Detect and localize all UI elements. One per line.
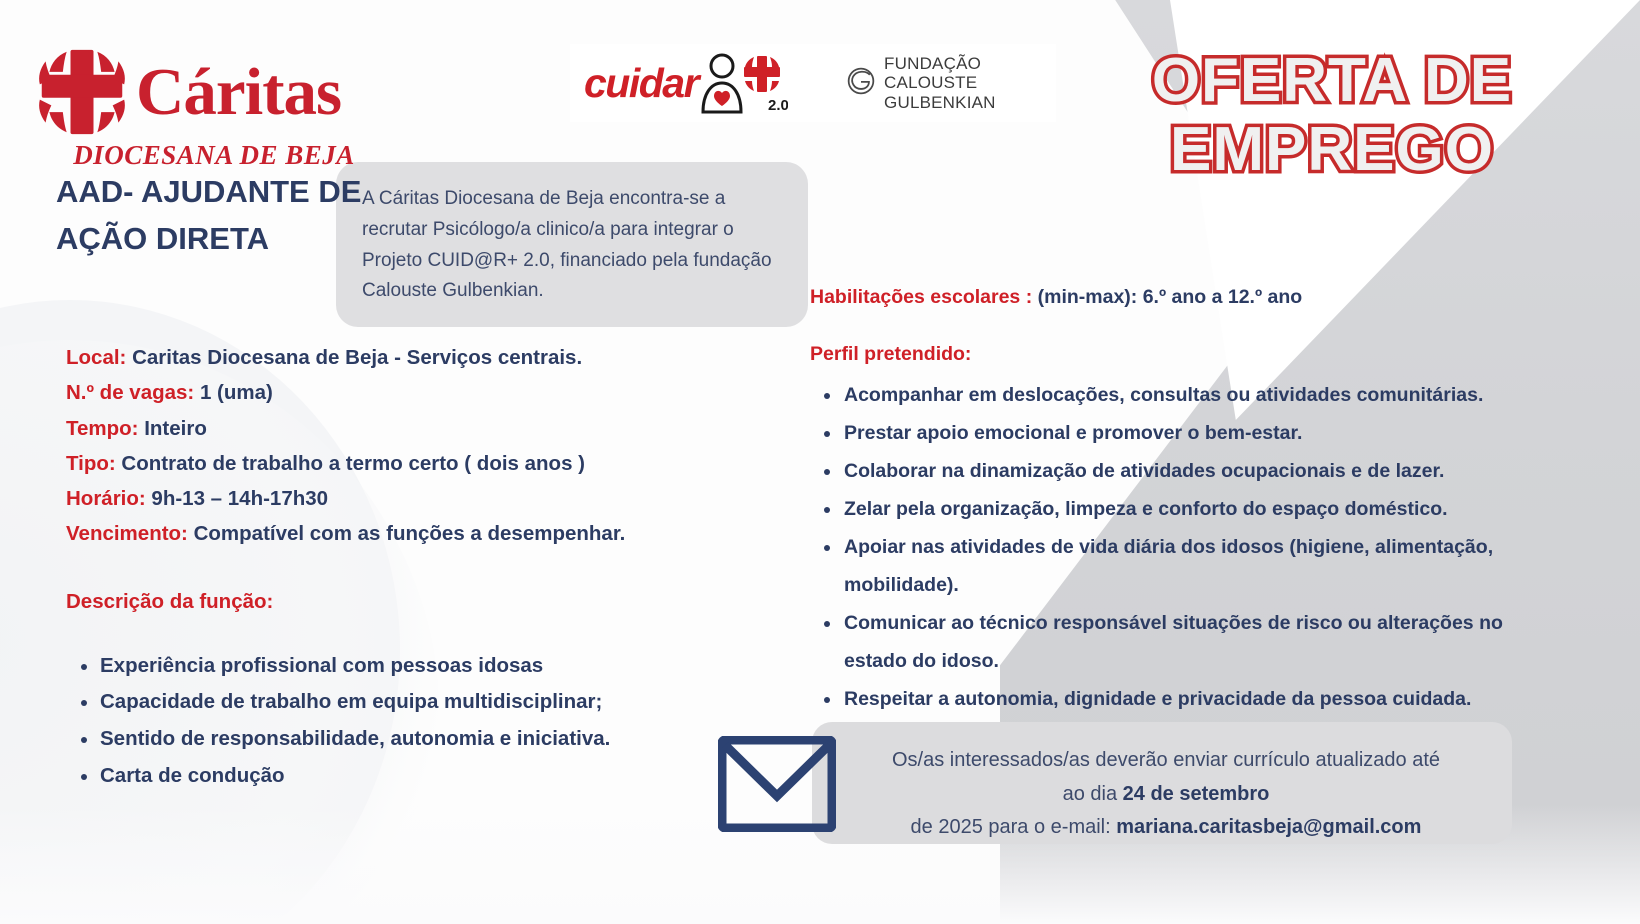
list-item: Colaborar na dinamização de atividades o… bbox=[844, 452, 1550, 490]
intro-callout: A Cáritas Diocesana de Beja encontra-se … bbox=[336, 162, 808, 327]
detail-rows: Local: Caritas Diocesana de Beja - Servi… bbox=[66, 340, 706, 552]
contact-email[interactable]: mariana.caritasbeja@gmail.com bbox=[1116, 816, 1421, 838]
partner-logos-band: cuidar 2.0 bbox=[570, 44, 1056, 122]
detail-row: N.º de vagas: 1 (uma) bbox=[66, 375, 706, 410]
description-list: Experiência profissional com pessoas ido… bbox=[66, 648, 706, 796]
education-label: Habilitações escolares : bbox=[810, 286, 1032, 308]
detail-row: Local: Caritas Diocesana de Beja - Servi… bbox=[66, 340, 706, 375]
contact-line-2-prefix: ao dia bbox=[1063, 783, 1123, 805]
detail-label: Local: bbox=[66, 346, 126, 369]
detail-row: Horário: 9h-13 – 14h-17h30 bbox=[66, 481, 706, 516]
contact-line-3: de 2025 para o e-mail: mariana.caritasbe… bbox=[846, 811, 1486, 845]
list-item: Experiência profissional com pessoas ido… bbox=[100, 648, 706, 685]
job-offer-poster: Cáritas DIOCESANA DE BEJA cuidar bbox=[0, 0, 1640, 924]
headline-line-2: EMPREGO bbox=[1052, 115, 1612, 184]
caritas-wordmark: Cáritas bbox=[136, 60, 341, 124]
detail-label: Tipo: bbox=[66, 452, 116, 475]
detail-row: Tempo: Inteiro bbox=[66, 411, 706, 446]
page-title: OFERTA DE EMPREGO bbox=[1052, 46, 1612, 185]
detail-value: Caritas Diocesana de Beja - Serviços cen… bbox=[126, 346, 582, 369]
caritas-subtitle: DIOCESANA DE BEJA bbox=[34, 140, 364, 171]
detail-label: Tempo: bbox=[66, 417, 139, 440]
caritas-logo-top: Cáritas bbox=[34, 46, 364, 138]
gulbenkian-logo: FUNDAÇÃO CALOUSTE GULBENKIAN bbox=[846, 54, 1056, 111]
job-title: AAD- AJUDANTE DE AÇÃO DIRETA bbox=[56, 168, 366, 262]
detail-label: Horário: bbox=[66, 487, 146, 510]
cuidar-logo: cuidar 2.0 bbox=[584, 52, 788, 114]
list-item: Zelar pela organização, limpeza e confor… bbox=[844, 490, 1550, 528]
list-item: Prestar apoio emocional e promover o bem… bbox=[844, 414, 1550, 452]
headline-line-1: OFERTA DE bbox=[1152, 46, 1512, 115]
description-heading: Descrição da função: bbox=[66, 590, 706, 614]
gulbenkian-line2: CALOUSTE GULBENKIAN bbox=[884, 73, 996, 111]
cuidar-wordmark: cuidar bbox=[584, 63, 698, 104]
detail-value: 1 (uma) bbox=[194, 381, 273, 404]
list-item: Respeitar a autonomia, dignidade e priva… bbox=[844, 680, 1550, 718]
list-item: Capacidade de trabalho em equipa multidi… bbox=[100, 684, 706, 721]
contact-deadline: 24 de setembro bbox=[1123, 783, 1270, 805]
contact-line-1: Os/as interessados/as deverão enviar cur… bbox=[846, 744, 1486, 778]
caritas-cross-icon bbox=[34, 46, 130, 138]
profile-list: Acompanhar em deslocações, consultas ou … bbox=[810, 376, 1550, 718]
detail-value: 9h-13 – 14h-17h30 bbox=[146, 487, 328, 510]
list-item: Carta de condução bbox=[100, 758, 706, 795]
detail-row: Tipo: Contrato de trabalho a termo certo… bbox=[66, 446, 706, 481]
list-item: Acompanhar em deslocações, consultas ou … bbox=[844, 376, 1550, 414]
detail-value: Contrato de trabalho a termo certo ( doi… bbox=[116, 452, 585, 475]
detail-label: Vencimento: bbox=[66, 522, 188, 545]
gulbenkian-name: FUNDAÇÃO CALOUSTE GULBENKIAN bbox=[884, 54, 1056, 111]
gulbenkian-seal-icon bbox=[846, 66, 876, 101]
contact-text: Os/as interessados/as deverão enviar cur… bbox=[846, 744, 1486, 845]
detail-row: Vencimento: Compatível com as funções a … bbox=[66, 516, 706, 551]
education-value: (min-max): 6.º ano a 12.º ano bbox=[1038, 286, 1303, 308]
gulbenkian-line1: FUNDAÇÃO bbox=[884, 54, 981, 73]
job-details: Local: Caritas Diocesana de Beja - Servi… bbox=[66, 340, 706, 795]
list-item: Apoiar nas atividades de vida diária dos… bbox=[844, 528, 1550, 604]
envelope-icon bbox=[718, 736, 836, 832]
education-requirement: Habilitações escolares : (min-max): 6.º … bbox=[810, 282, 1550, 313]
intro-text: A Cáritas Diocesana de Beja encontra-se … bbox=[362, 184, 782, 307]
caritas-logo: Cáritas DIOCESANA DE BEJA bbox=[34, 46, 364, 171]
contact-line-2: ao dia 24 de setembro bbox=[846, 778, 1486, 812]
contact-line-3-prefix: de 2025 para o e-mail: bbox=[911, 816, 1117, 838]
cuidar-version: 2.0 bbox=[768, 97, 788, 114]
profile-heading: Perfil pretendido: bbox=[810, 343, 1550, 366]
detail-value: Compatível com as funções a desempenhar. bbox=[188, 522, 626, 545]
requirements-column: Habilitações escolares : (min-max): 6.º … bbox=[810, 282, 1550, 718]
detail-label: N.º de vagas: bbox=[66, 381, 194, 404]
detail-value: Inteiro bbox=[139, 417, 207, 440]
list-item: Comunicar ao técnico responsável situaçõ… bbox=[844, 604, 1550, 680]
cuidar-person-heart-icon: 2.0 bbox=[696, 52, 788, 114]
list-item: Sentido de responsabilidade, autonomia e… bbox=[100, 721, 706, 758]
